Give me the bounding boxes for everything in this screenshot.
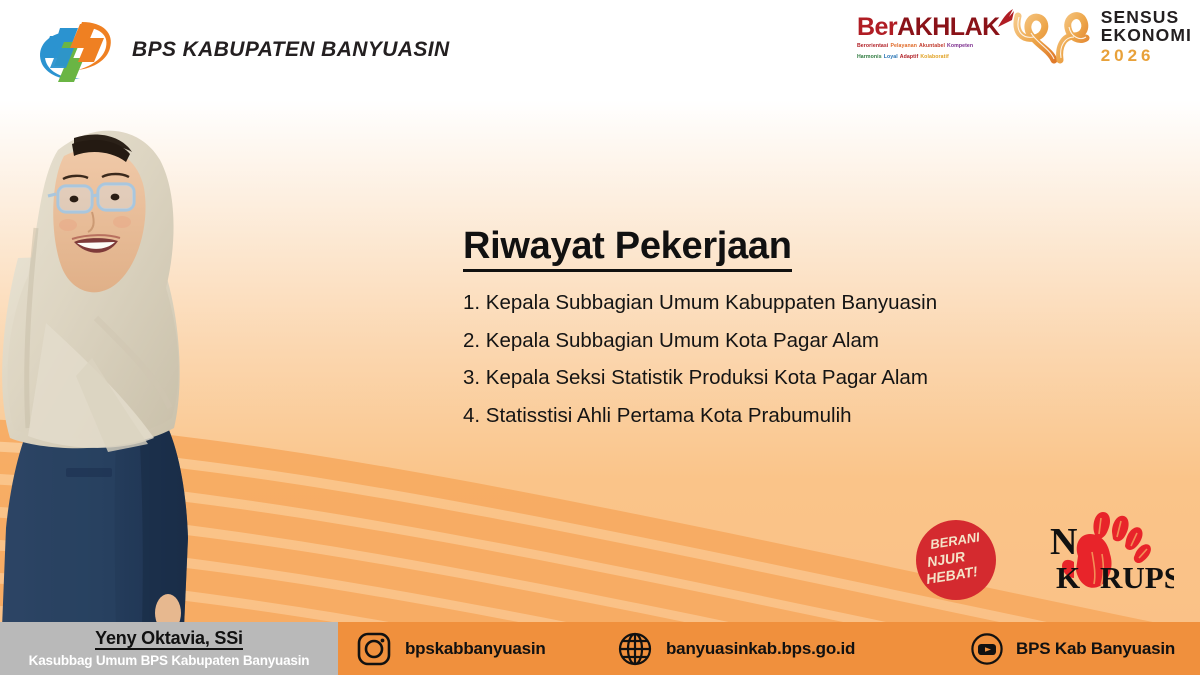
slide-header: BPS KABUPATEN BANYUASIN BerAKHLAK Berori… bbox=[0, 0, 1200, 100]
arrow-swoosh-icon bbox=[997, 8, 1015, 28]
berakhlak-tagline-line2: HarmonisLoyalAdaptifKolaboratif bbox=[857, 54, 951, 62]
presentation-slide: BPS KABUPATEN BANYUASIN BerAKHLAK Berori… bbox=[0, 0, 1200, 675]
berani-njur-hebat-text: BERANI NJUR HEBAT! bbox=[923, 529, 989, 591]
list-item: 4. Statisstisi Ahli Pertama Kota Prabumu… bbox=[463, 406, 1163, 427]
svg-text:N: N bbox=[1050, 521, 1077, 563]
no-korupsi-handprint-icon: N K RUPSI bbox=[1034, 508, 1174, 600]
instagram-contact[interactable]: bpskabbanyuasin bbox=[356, 622, 546, 675]
website-contact[interactable]: banyuasinkab.bps.go.id bbox=[617, 622, 855, 675]
sensus-ribbon-icon bbox=[1008, 8, 1094, 64]
job-history-list: 1. Kepala Subbagian Umum Kabuppaten Bany… bbox=[463, 293, 1163, 426]
brand-right-group: BerAKHLAK BerorientasiPelayananAkuntabel… bbox=[857, 8, 1192, 64]
svg-text:RUPSI: RUPSI bbox=[1100, 560, 1174, 595]
instagram-handle: bpskabbanyuasin bbox=[405, 639, 546, 659]
sensus-ekonomi-logo: SENSUS EKONOMI 2026 bbox=[1008, 8, 1192, 64]
brand-left-group: BPS KABUPATEN BANYUASIN bbox=[34, 14, 450, 86]
website-url: banyuasinkab.bps.go.id bbox=[666, 639, 855, 659]
list-item: 1. Kepala Subbagian Umum Kabuppaten Bany… bbox=[463, 293, 1163, 314]
sensus-line2: EKONOMI bbox=[1101, 27, 1192, 45]
berakhlak-tagline-line1: BerorientasiPelayananAkuntabelKompeten bbox=[857, 43, 975, 51]
list-item: 2. Kepala Subbagian Umum Kota Pagar Alam bbox=[463, 331, 1163, 352]
page-title: Riwayat Pekerjaan bbox=[463, 225, 792, 272]
person-name-panel: Yeny Oktavia, SSi Kasubbag Umum BPS Kabu… bbox=[0, 622, 338, 675]
berakhlak-wordmark: BerAKHLAK bbox=[857, 15, 1000, 40]
berani-njur-hebat-badge-icon: BERANI NJUR HEBAT! bbox=[916, 520, 996, 600]
berakhlak-logo: BerAKHLAK BerorientasiPelayananAkuntabel… bbox=[857, 11, 1000, 62]
person-role: Kasubbag Umum BPS Kabupaten Banyuasin bbox=[29, 653, 310, 668]
list-item: 3. Kepala Seksi Statistik Produksi Kota … bbox=[463, 368, 1163, 389]
bps-logo-icon bbox=[34, 14, 118, 86]
org-name: BPS KABUPATEN BANYUASIN bbox=[132, 38, 450, 62]
youtube-channel: BPS Kab Banyuasin bbox=[1016, 639, 1175, 659]
sensus-line1: SENSUS bbox=[1101, 9, 1192, 27]
youtube-contact[interactable]: BPS Kab Banyuasin bbox=[971, 622, 1175, 675]
main-content: Riwayat Pekerjaan 1. Kepala Subbagian Um… bbox=[463, 225, 1163, 443]
person-name: Yeny Oktavia, SSi bbox=[95, 629, 243, 651]
globe-icon bbox=[617, 631, 653, 667]
svg-text:K: K bbox=[1056, 560, 1080, 595]
berakhlak-suffix: AKHLAK bbox=[897, 13, 1000, 41]
youtube-icon bbox=[971, 633, 1003, 665]
sensus-text-block: SENSUS EKONOMI 2026 bbox=[1101, 9, 1192, 64]
instagram-icon bbox=[356, 631, 392, 667]
sensus-year: 2026 bbox=[1101, 47, 1192, 64]
person-portrait-photo bbox=[0, 108, 278, 628]
berakhlak-prefix: Ber bbox=[857, 13, 897, 41]
